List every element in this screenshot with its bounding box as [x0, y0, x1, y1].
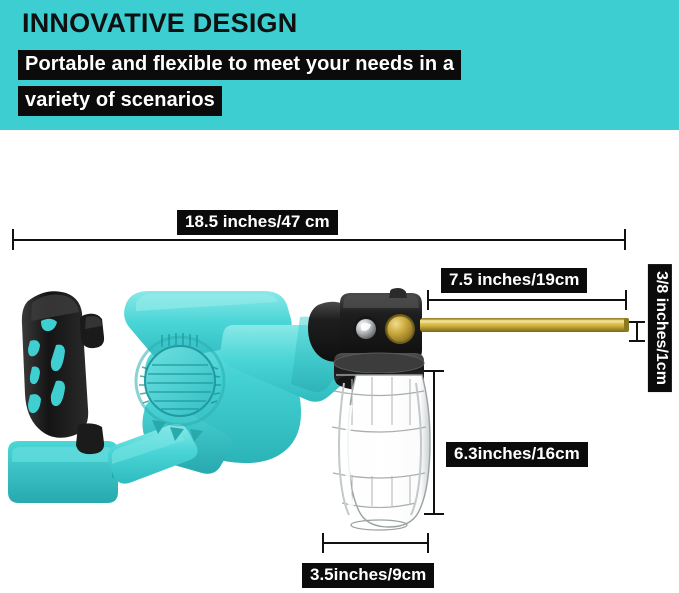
wand-diameter-tick-top [629, 321, 645, 323]
wand-length-tick-right [625, 290, 627, 310]
bottle-height-rule [433, 370, 435, 515]
page-title: INNOVATIVE DESIGN [22, 8, 297, 39]
dimension-label-total-length: 18.5 inches/47 cm [177, 210, 338, 235]
wand-diameter-tick-bottom [629, 340, 645, 342]
wand-length-tick-left [427, 290, 429, 310]
bottle-width-tick-right [427, 533, 429, 553]
product-infographic: INNOVATIVE DESIGN Portable and flexible … [0, 0, 679, 593]
total-length-tick-right [624, 229, 626, 250]
total-length-rule [12, 239, 626, 241]
bottle-width-tick-left [322, 533, 324, 553]
bottle-width-rule [322, 542, 429, 544]
brass-wand [420, 318, 629, 332]
dimension-label-wand-diameter-wrap: 3/8 inches/1cm [648, 262, 672, 394]
handle-grip [22, 291, 104, 454]
wand-length-rule [427, 299, 627, 301]
dimension-label-bottle-width: 3.5inches/9cm [302, 563, 434, 588]
total-length-tick-left [12, 229, 14, 250]
bottle-height-tick-bottom [424, 513, 444, 515]
dimension-label-wand-diameter: 3/8 inches/1cm [648, 264, 672, 392]
bottle-height-tick-top [424, 370, 444, 372]
dimension-label-bottle-height: 6.3inches/16cm [446, 442, 588, 467]
wand-diameter-rule [636, 321, 638, 342]
header-subtitle-line-1: Portable and flexible to meet your needs… [18, 50, 461, 80]
header-subtitle-line-2: variety of scenarios [18, 86, 222, 116]
battery-pack [8, 441, 122, 503]
dimension-label-wand-length: 7.5 inches/19cm [441, 268, 587, 293]
liquid-bottle [332, 375, 430, 530]
